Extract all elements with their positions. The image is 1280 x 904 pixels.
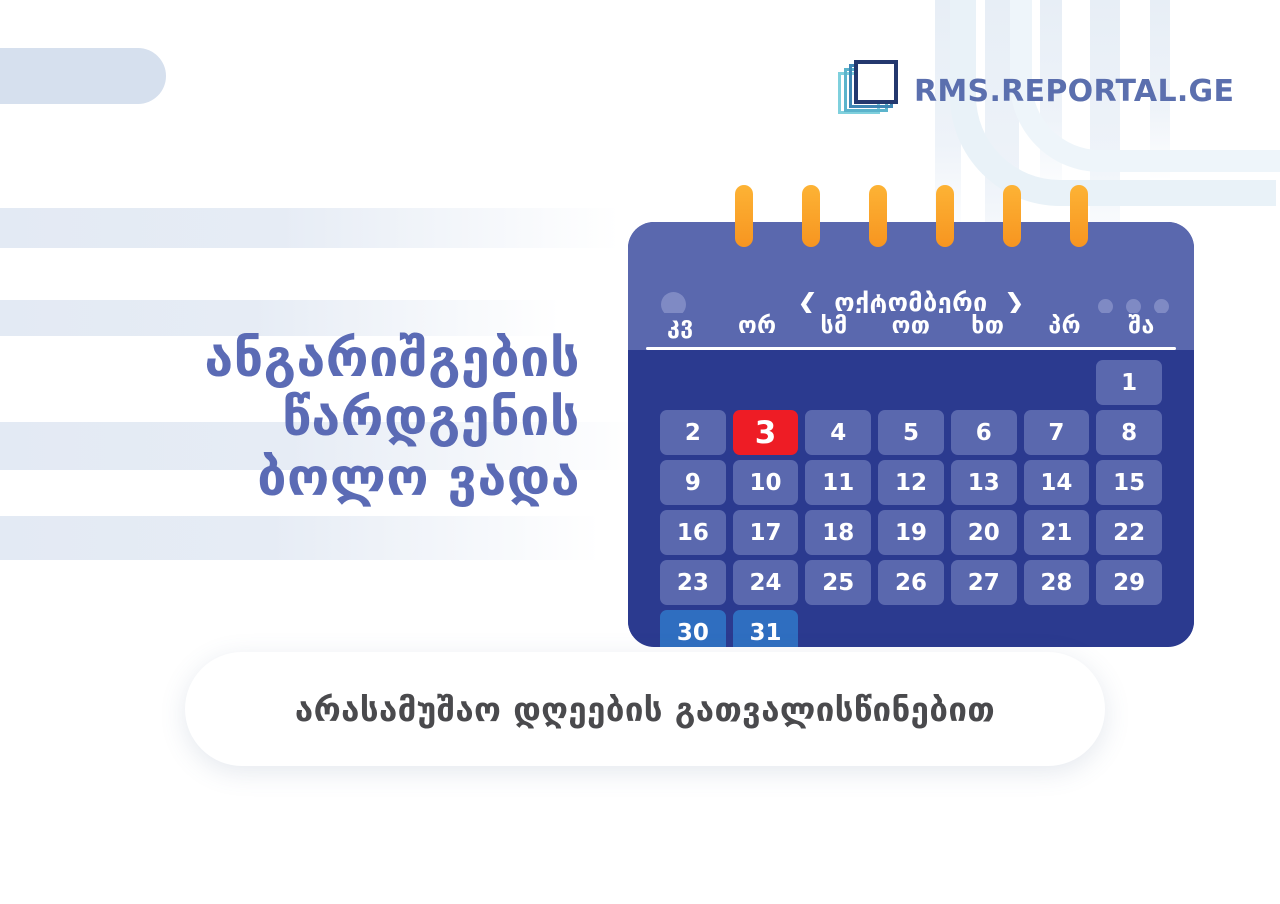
calendar-day-empty bbox=[878, 610, 944, 647]
calendar-body: კვ ორ სმ ოთ ხთ პრ შა 1234567891011121314… bbox=[628, 313, 1194, 636]
calendar-day[interactable]: 27 bbox=[951, 560, 1017, 605]
calendar-day-empty bbox=[660, 360, 726, 405]
page-title-line-2: წარდგენის bbox=[40, 389, 580, 448]
weekday-label: ხთ bbox=[951, 313, 1024, 339]
calendar-day[interactable]: 16 bbox=[660, 510, 726, 555]
calendar-day[interactable]: 28 bbox=[1024, 560, 1090, 605]
brand-name: RMS.REPORTAL.GE bbox=[914, 74, 1234, 109]
calendar-day[interactable]: 26 bbox=[878, 560, 944, 605]
calendar-day-empty bbox=[805, 610, 871, 647]
calendar-day[interactable]: 17 bbox=[733, 510, 799, 555]
calendar-day[interactable]: 2 bbox=[660, 410, 726, 455]
calendar-day-empty bbox=[733, 360, 799, 405]
calendar-day[interactable]: 8 bbox=[1096, 410, 1162, 455]
weekday-label: ორ bbox=[721, 313, 794, 339]
status-banner-text: არასამუშაო დღეების გათვალისწინებით bbox=[295, 690, 995, 729]
calendar-day[interactable]: 9 bbox=[660, 460, 726, 505]
calendar-day-empty bbox=[1096, 610, 1162, 647]
calendar-day[interactable]: 6 bbox=[951, 410, 1017, 455]
calendar-day-empty bbox=[1024, 360, 1090, 405]
bg-band bbox=[0, 516, 600, 560]
calendar-day[interactable]: 19 bbox=[878, 510, 944, 555]
calendar-header: ❮ ოქტომბერი ❯ bbox=[628, 222, 1194, 313]
calendar-day[interactable]: 14 bbox=[1024, 460, 1090, 505]
calendar-day-grid: 1234567891011121314151617181920212223242… bbox=[660, 360, 1162, 647]
page-title: ანგარიშგების წარდგენის ბოლო ვადა bbox=[40, 330, 580, 508]
calendar-day[interactable]: 12 bbox=[878, 460, 944, 505]
calendar-day-empty bbox=[878, 360, 944, 405]
calendar-day[interactable]: 25 bbox=[805, 560, 871, 605]
poster-canvas: RMS.REPORTAL.GE ანგარიშგების წარდგენის ბ… bbox=[0, 0, 1280, 904]
calendar-day-empty bbox=[951, 360, 1017, 405]
calendar-day-empty bbox=[805, 360, 871, 405]
calendar-day[interactable]: 23 bbox=[660, 560, 726, 605]
calendar-day[interactable]: 15 bbox=[1096, 460, 1162, 505]
calendar-day[interactable]: 10 bbox=[733, 460, 799, 505]
chevron-right-icon[interactable]: ❯ bbox=[1004, 290, 1025, 315]
brand-logo: RMS.REPORTAL.GE bbox=[838, 60, 1234, 122]
logo-square-front bbox=[854, 60, 898, 104]
calendar-day[interactable]: 18 bbox=[805, 510, 871, 555]
calendar-day[interactable]: 20 bbox=[951, 510, 1017, 555]
calendar-day[interactable]: 1 bbox=[1096, 360, 1162, 405]
calendar-day[interactable]: 22 bbox=[1096, 510, 1162, 555]
bg-topleft-bar bbox=[0, 48, 166, 104]
weekday-label: სმ bbox=[798, 313, 871, 339]
calendar-day[interactable]: 31 bbox=[733, 610, 799, 647]
bg-band bbox=[0, 208, 620, 248]
calendar-grid-area: 1234567891011121314151617181920212223242… bbox=[628, 350, 1194, 636]
calendar-day-selected[interactable]: 3 bbox=[733, 410, 799, 455]
weekday-label: პრ bbox=[1028, 313, 1101, 339]
calendar-day-empty bbox=[1024, 610, 1090, 647]
calendar-day[interactable]: 13 bbox=[951, 460, 1017, 505]
page-title-line-1: ანგარიშგების bbox=[40, 330, 580, 389]
weekday-label: კვ bbox=[644, 313, 717, 339]
calendar-day[interactable]: 24 bbox=[733, 560, 799, 605]
weekday-label: შა bbox=[1105, 313, 1178, 339]
page-title-line-3: ბოლო ვადა bbox=[40, 449, 580, 508]
calendar-day[interactable]: 30 bbox=[660, 610, 726, 647]
calendar-day[interactable]: 4 bbox=[805, 410, 871, 455]
calendar-day-empty bbox=[951, 610, 1017, 647]
chevron-left-icon[interactable]: ❮ bbox=[797, 290, 818, 315]
calendar-day[interactable]: 7 bbox=[1024, 410, 1090, 455]
stacked-squares-icon bbox=[838, 60, 900, 122]
status-banner: არასამუშაო დღეების გათვალისწინებით bbox=[185, 652, 1105, 766]
calendar-day[interactable]: 21 bbox=[1024, 510, 1090, 555]
calendar-card: ❮ ოქტომბერი ❯ კვ ორ სმ ოთ ხთ პრ შა 1234 bbox=[628, 222, 1194, 647]
weekday-label: ოთ bbox=[875, 313, 948, 339]
calendar-day[interactable]: 5 bbox=[878, 410, 944, 455]
calendar-weekday-row: კვ ორ სმ ოთ ხთ პრ შა bbox=[644, 313, 1178, 345]
calendar-widget: ❮ ოქტომბერი ❯ კვ ორ სმ ოთ ხთ პრ შა 1234 bbox=[628, 185, 1194, 647]
calendar-day[interactable]: 29 bbox=[1096, 560, 1162, 605]
calendar-day[interactable]: 11 bbox=[805, 460, 871, 505]
